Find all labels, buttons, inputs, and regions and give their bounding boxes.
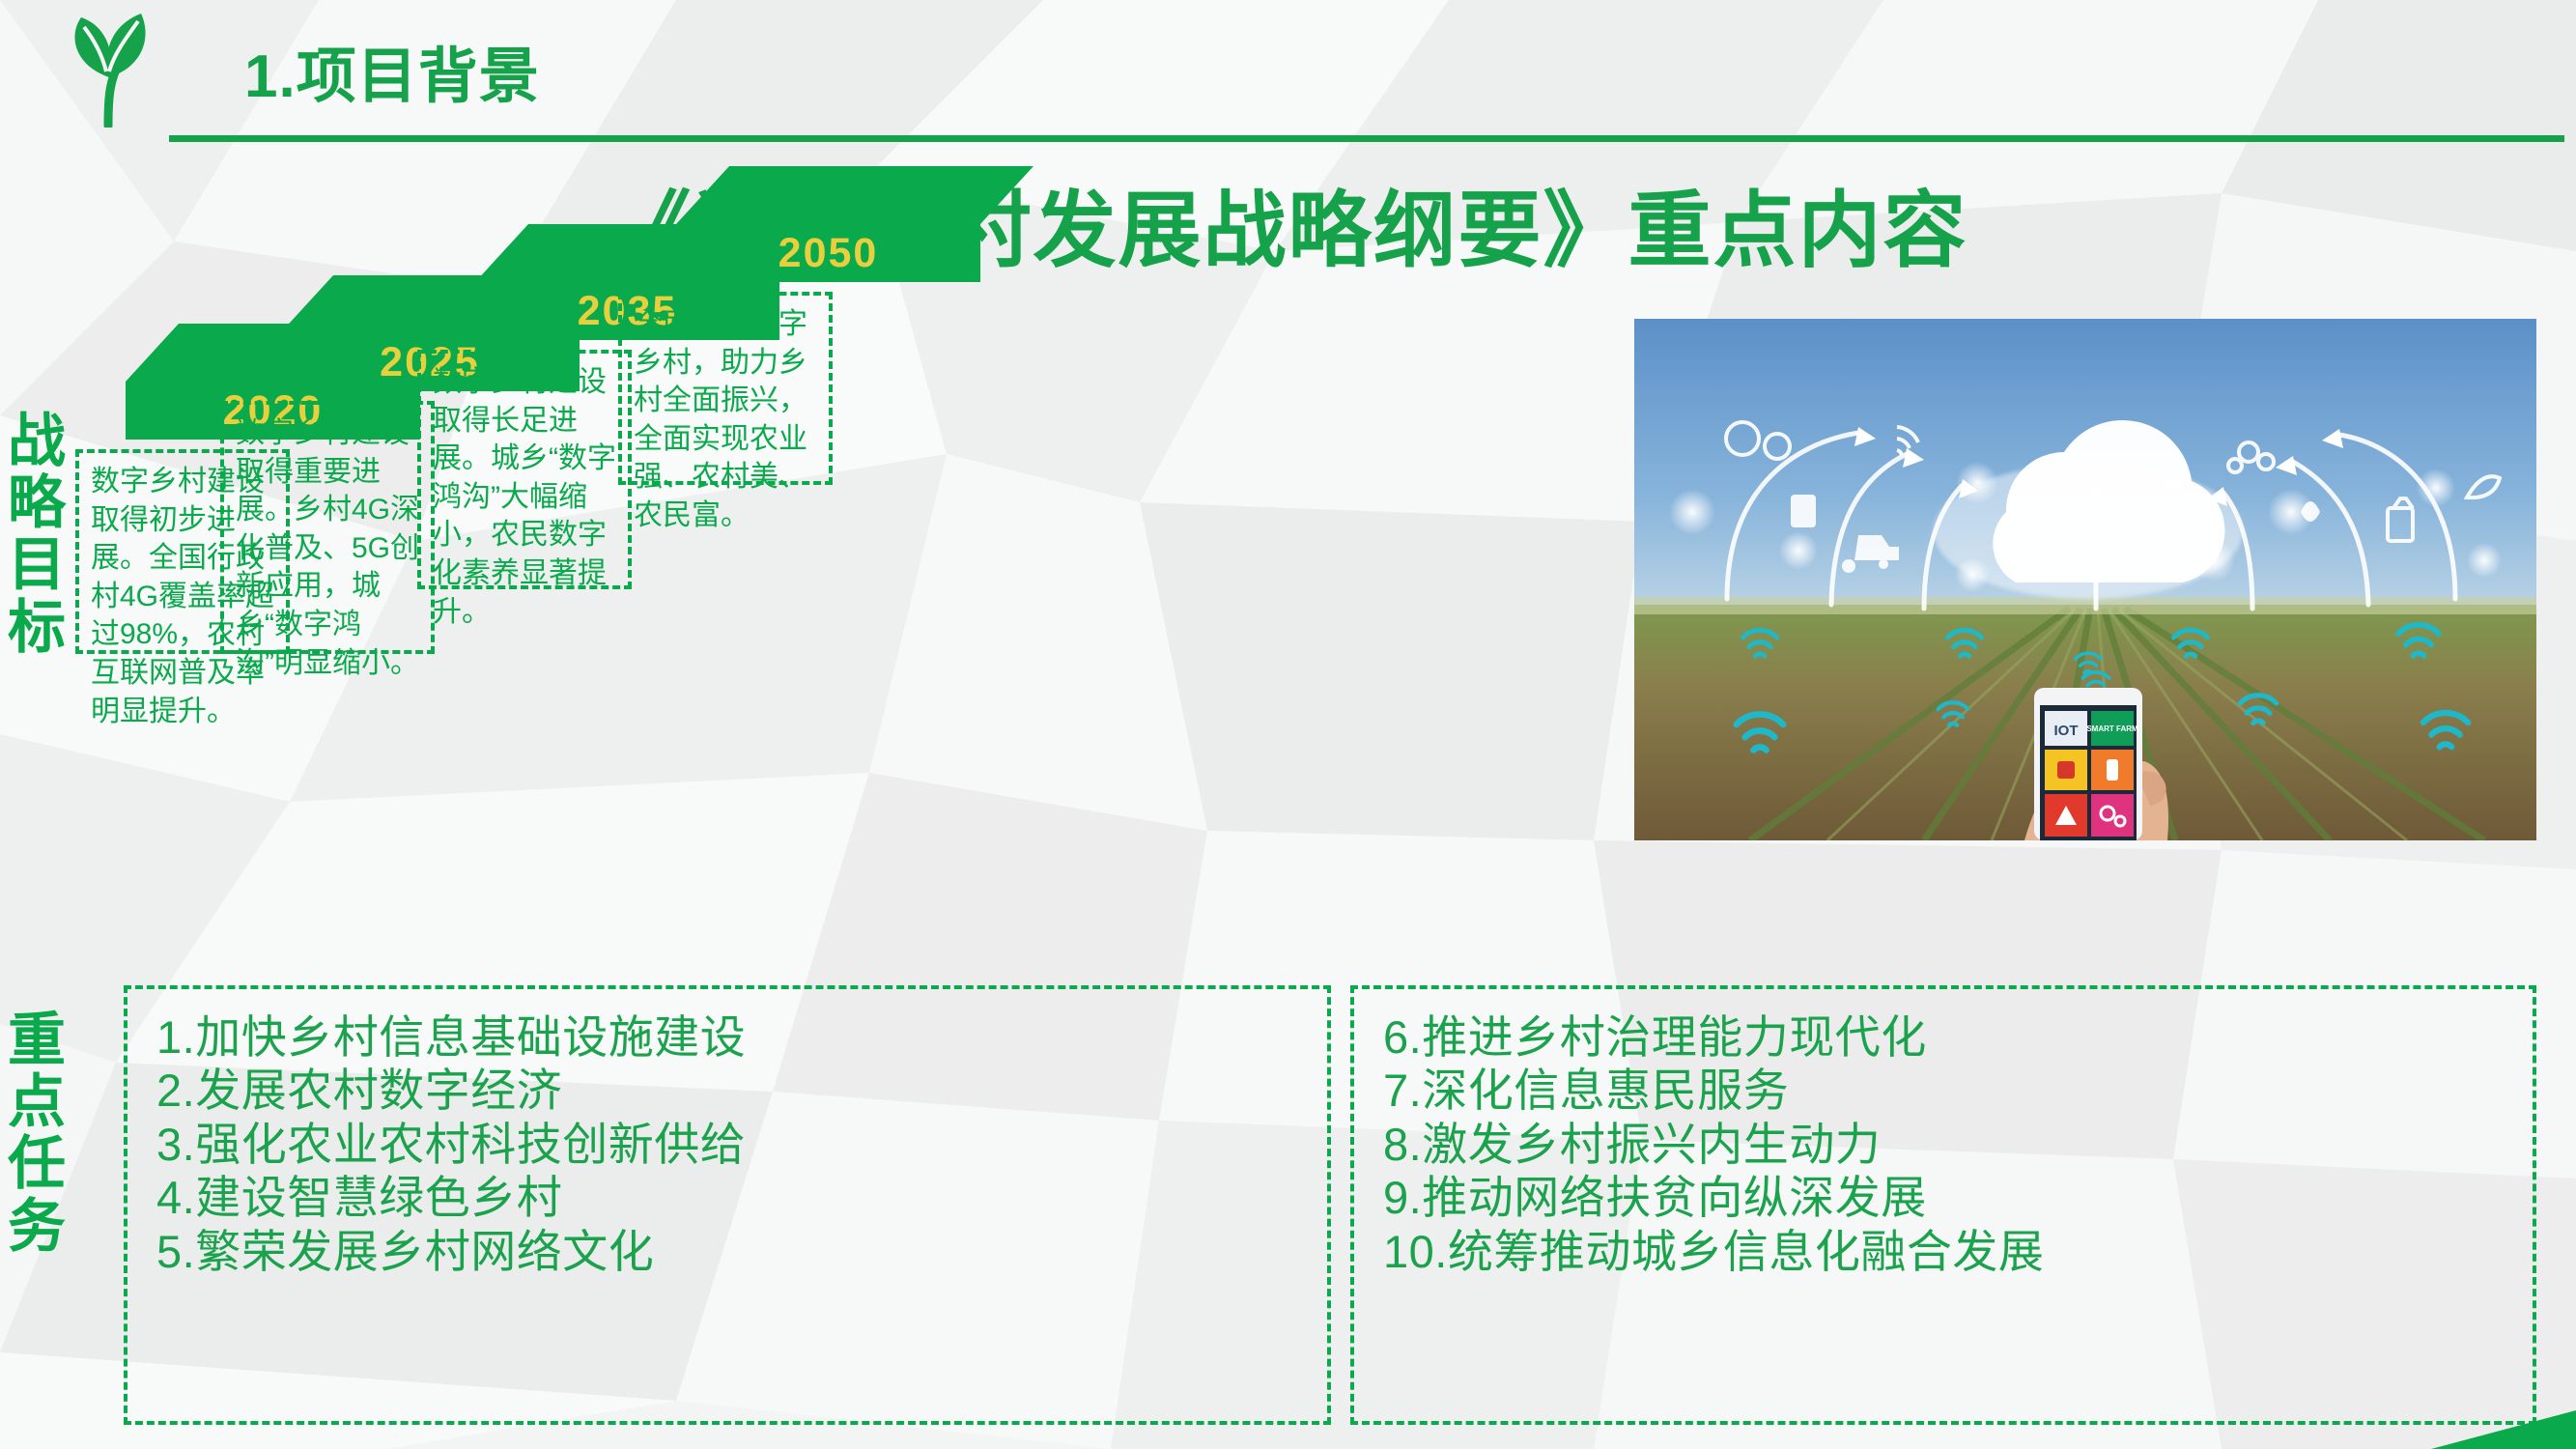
list-item[interactable]: 6.推进乡村治理能力现代化 xyxy=(1383,1010,2515,1064)
step-2050-year-bar: 2050 xyxy=(676,224,980,282)
step-2050-top-slab xyxy=(676,166,1033,224)
key-tasks-left-box: 1.加快乡村信息基础设施建设 2.发展农村数字经济 3.强化农业农村科技创新供给… xyxy=(124,985,1331,1425)
smart-agriculture-photo: IOT SMART FARM xyxy=(1634,319,2536,840)
slide-header: 1.项目背景 xyxy=(0,0,2576,150)
step-2025-description-text: 数字乡村建设取得重要进展。乡村4G深化普及、5G创新应用，城乡“数字鸿沟”明显缩… xyxy=(236,417,419,679)
step-2050-description-text: 全面建成数字乡村，助力乡村全面振兴，全面实现农业强、农村美、农民富。 xyxy=(634,308,807,531)
phone-iot-tile-label: IOT xyxy=(2054,723,2079,739)
list-item[interactable]: 10.统筹推动城乡信息化融合发展 xyxy=(1383,1225,2515,1278)
list-item[interactable]: 4.建设智慧绿色乡村 xyxy=(156,1171,1310,1224)
vlabel-task-text: 重点任务 xyxy=(8,1008,66,1259)
section-label-key-tasks: 重点任务 xyxy=(2,1009,71,1258)
list-item[interactable]: 3.强化农业农村科技创新供给 xyxy=(156,1118,1310,1171)
step-2025-description: 数字乡村建设取得重要进展。乡村4G深化普及、5G创新应用，城乡“数字鸿沟”明显缩… xyxy=(220,401,435,654)
list-item[interactable]: 2.发展农村数字经济 xyxy=(156,1064,1310,1117)
list-item[interactable]: 7.深化信息惠民服务 xyxy=(1383,1064,2515,1117)
leaf-icon xyxy=(58,12,164,128)
list-item[interactable]: 1.加快乡村信息基础设施建设 xyxy=(156,1010,1310,1064)
step-2035-description-text: 数字乡村建设取得长足进展。城乡“数字鸿沟”大幅缩小，农民数字化素养显著提升。 xyxy=(433,366,616,628)
step-2035-description: 数字乡村建设取得长足进展。城乡“数字鸿沟”大幅缩小，农民数字化素养显著提升。 xyxy=(417,350,632,589)
main-title: 《数字乡村发展战略纲要》重点内容 xyxy=(0,162,2576,283)
list-item[interactable]: 9.推动网络扶贫向纵深发展 xyxy=(1383,1171,2515,1224)
roadmap-staircase: 2020 数字乡村建设取得初步进展。全国行政村4G覆盖率超过98%，农村互联网普… xyxy=(0,280,1603,956)
photo-illustration: IOT SMART FARM xyxy=(1634,319,2536,840)
phone-smartfarm-tile-label: SMART FARM xyxy=(2086,724,2138,733)
step-2050-year: 2050 xyxy=(778,230,879,277)
step-2050-description: 全面建成数字乡村，助力乡村全面振兴，全面实现农业强、农村美、农民富。 xyxy=(618,292,833,485)
key-tasks-right-box: 6.推进乡村治理能力现代化 7.深化信息惠民服务 8.激发乡村振兴内生动力 9.… xyxy=(1350,985,2536,1425)
page-title: 1.项目背景 xyxy=(244,27,540,114)
list-item[interactable]: 5.繁荣发展乡村网络文化 xyxy=(156,1225,1310,1278)
list-item[interactable]: 8.激发乡村振兴内生动力 xyxy=(1383,1118,2515,1171)
header-divider xyxy=(169,135,2564,142)
